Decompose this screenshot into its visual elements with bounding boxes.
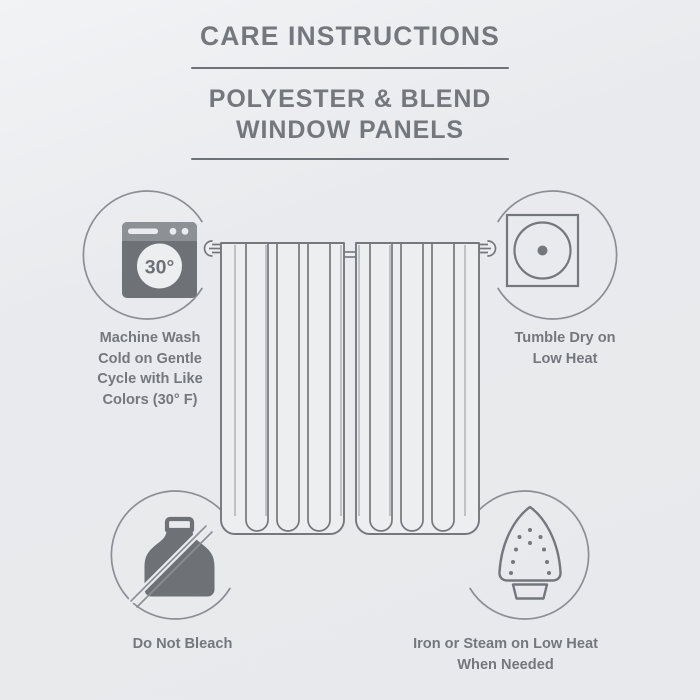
caption-do-not-bleach: Do Not Bleach [70, 634, 295, 655]
no-bleach-icon [131, 519, 215, 607]
caption-machine-wash: Machine Wash Cold on Gentle Cycle with L… [35, 328, 265, 411]
caption-line: Cycle with Like [35, 369, 265, 390]
bleach-bottle-handle [167, 519, 192, 530]
iron-steam-holes [509, 528, 551, 575]
tumble-dryer-icon [507, 215, 578, 286]
iron-heel [513, 585, 547, 599]
curtain-panel-right [356, 243, 479, 534]
caption-line: Machine Wash [35, 328, 265, 349]
caption-tumble-dry: Tumble Dry on Low Heat [470, 328, 660, 369]
caption-line: Cold on Gentle [35, 349, 265, 370]
iron-icon [499, 507, 560, 599]
caption-line: When Needed [368, 655, 643, 676]
ring-iron [470, 491, 589, 619]
caption-line: Colors (30° F) [35, 390, 265, 411]
washing-machine-icon: 30° [122, 222, 197, 298]
caption-line: Tumble Dry on [470, 328, 660, 349]
caption-line: Iron or Steam on Low Heat [368, 634, 643, 655]
care-instructions-infographic: CARE INSTRUCTIONS POLYESTER & BLEND WIND… [0, 0, 700, 700]
caption-line: Low Heat [470, 349, 660, 370]
caption-iron: Iron or Steam on Low Heat When Needed [368, 634, 643, 675]
wash-temperature-label: 30° [145, 257, 175, 279]
caption-line: Do Not Bleach [70, 634, 295, 655]
